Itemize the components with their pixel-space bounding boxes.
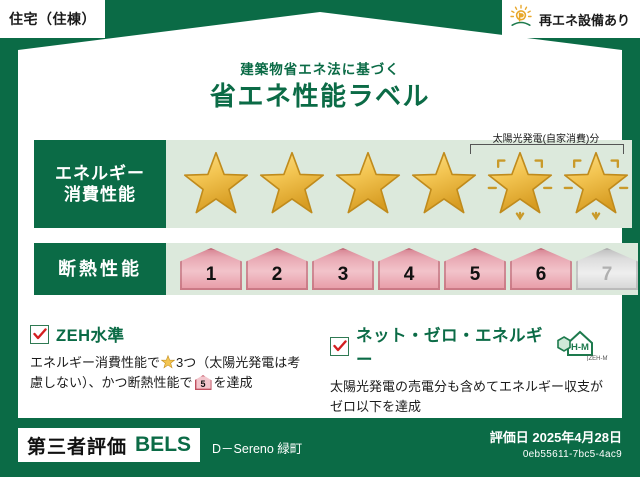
energy-performance-value: 太陽光発電(自家消費)分: [166, 140, 632, 228]
evaluation-id: 0eb55611-7bc5-4ac9: [490, 449, 622, 460]
star-4: [408, 149, 480, 219]
sun-icon: [508, 4, 534, 35]
insulation-level-value: 7: [602, 264, 613, 290]
criterion-zeh-body: エネルギー消費性能で3つ（太陽光発電は考慮しない）、かつ断熱性能で5を達成: [30, 353, 308, 393]
footer: 第三者評価 BELS D－Sereno 緑町 評価日 2025年4月28日 0e…: [0, 418, 640, 477]
energy-performance-label: エネルギー 消費性能: [34, 140, 166, 228]
energy-label-line1: エネルギー: [55, 163, 145, 184]
bels-en-label: BELS: [135, 433, 191, 457]
evaluation-date-label: 評価日: [490, 430, 529, 445]
criterion-zeh-text-pre: エネルギー消費性能で: [30, 355, 160, 370]
zeh-m-logo: H-M [ZEH-M]: [554, 327, 608, 366]
insulation-level-5: 5: [444, 248, 506, 290]
dwelling-type-tag: 住宅（住棟）: [0, 0, 105, 38]
insulation-level-value: 4: [404, 264, 415, 290]
insulation-level-1: 1: [180, 248, 242, 290]
energy-label-line2: 消費性能: [64, 184, 136, 205]
insulation-level-value: 2: [272, 264, 283, 290]
insulation-performance-value: 1 2 3 4 5: [166, 243, 638, 295]
dwelling-type-label: 住宅（住棟）: [9, 9, 96, 29]
criterion-net-zero-header: ネット・ゼロ・エネルギー H-M [ZEH-M]: [330, 322, 608, 370]
bels-jp-label: 第三者評価: [27, 432, 127, 459]
check-icon: [330, 337, 349, 356]
star-1: [180, 149, 252, 219]
star-2: [256, 149, 328, 219]
insulation-level-value: 3: [338, 264, 349, 290]
label-subtitle: 建築物省エネ法に基づく: [0, 58, 640, 78]
criterion-zeh-header: ZEH水準: [30, 322, 308, 346]
inline-house-icon: 5: [195, 375, 212, 390]
energy-performance-row: エネルギー 消費性能 太陽光発電(自家消費)分: [34, 140, 606, 228]
insulation-level-value: 6: [536, 264, 547, 290]
criterion-zeh-text-post: を達成: [214, 375, 253, 390]
star-rating: [166, 149, 632, 219]
star-3: [332, 149, 404, 219]
criterion-net-zero-title: ネット・ゼロ・エネルギー: [356, 322, 545, 370]
bels-badge: 第三者評価 BELS: [18, 428, 200, 462]
renewable-equipment-badge: 再エネ設備あり: [502, 0, 640, 38]
svg-text:H-M: H-M: [571, 342, 589, 353]
inline-house-value: 5: [195, 375, 212, 390]
evaluation-date-value: 2025年4月28日: [532, 430, 622, 445]
building-name: D－Sereno 緑町: [212, 438, 302, 457]
check-icon: [30, 325, 49, 344]
evaluation-date: 評価日 2025年4月28日: [490, 427, 622, 446]
insulation-level-4: 4: [378, 248, 440, 290]
criterion-zeh: ZEH水準 エネルギー消費性能で3つ（太陽光発電は考慮しない）、かつ断熱性能で5…: [30, 322, 308, 393]
evaluation-info: 評価日 2025年4月28日 0eb55611-7bc5-4ac9: [490, 427, 622, 460]
star-6-solar: [560, 149, 632, 219]
insulation-performance-row: 断熱性能 1 2 3 4: [34, 243, 606, 295]
criterion-net-zero-body: 太陽光発電の売電分も含めてエネルギー収支がゼロ以下を達成: [330, 377, 608, 417]
page-title: 省エネ性能ラベル: [0, 76, 640, 113]
renewable-badge-label: 再エネ設備あり: [539, 10, 630, 29]
insulation-level-2: 2: [246, 248, 308, 290]
insulation-level-3: 3: [312, 248, 374, 290]
insulation-level-7: 7: [576, 248, 638, 290]
star-5-solar: [484, 149, 556, 219]
svg-text:[ZEH-M]: [ZEH-M]: [587, 356, 608, 361]
energy-label-card: 住宅（住棟） 再エネ設備あり 建築物省エネ法: [0, 0, 640, 477]
insulation-level-value: 5: [470, 264, 481, 290]
insulation-level-scale: 1 2 3 4 5: [166, 248, 638, 290]
solar-note-label: 太陽光発電(自家消費)分: [466, 130, 626, 145]
inline-star-icon: [161, 355, 175, 369]
insulation-level-value: 1: [206, 264, 217, 290]
criterion-net-zero: ネット・ゼロ・エネルギー H-M [ZEH-M] 太陽光発電の売電分も含めてエネ…: [330, 322, 608, 417]
criterion-zeh-title: ZEH水準: [56, 322, 125, 346]
insulation-performance-label: 断熱性能: [34, 243, 166, 295]
insulation-level-6: 6: [510, 248, 572, 290]
